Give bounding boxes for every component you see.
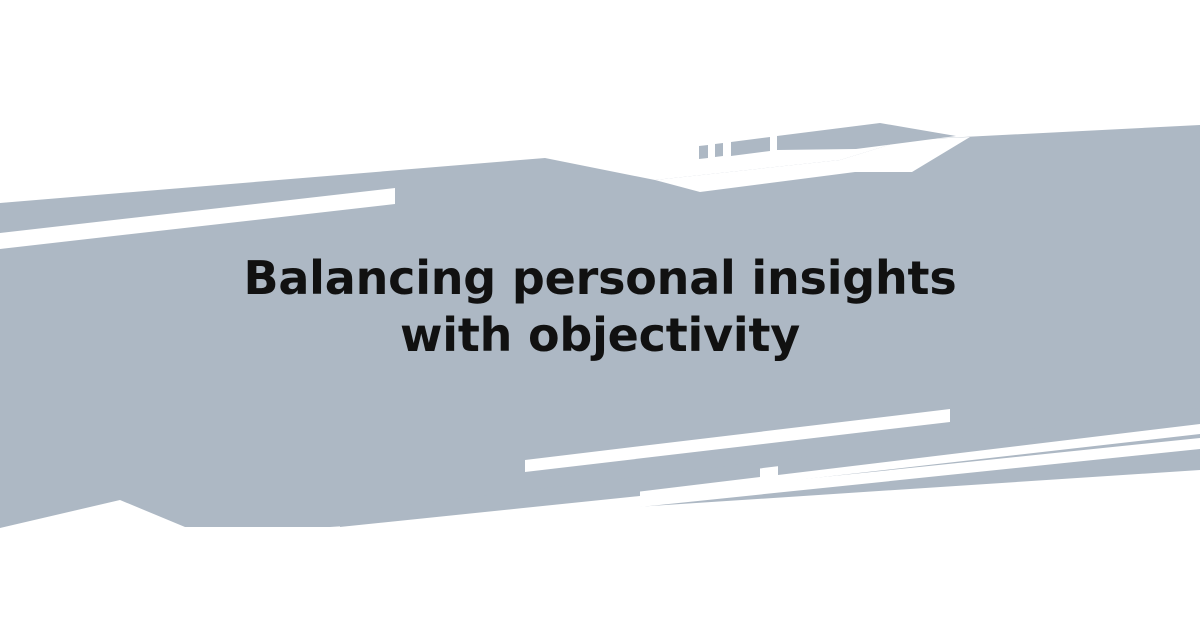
- background-artwork: [0, 0, 1200, 630]
- banner-card: Balancing personal insights with objecti…: [0, 0, 1200, 630]
- top-dash-1: [699, 145, 708, 159]
- top-dash-3: [731, 137, 770, 156]
- top-dash-2: [715, 143, 723, 157]
